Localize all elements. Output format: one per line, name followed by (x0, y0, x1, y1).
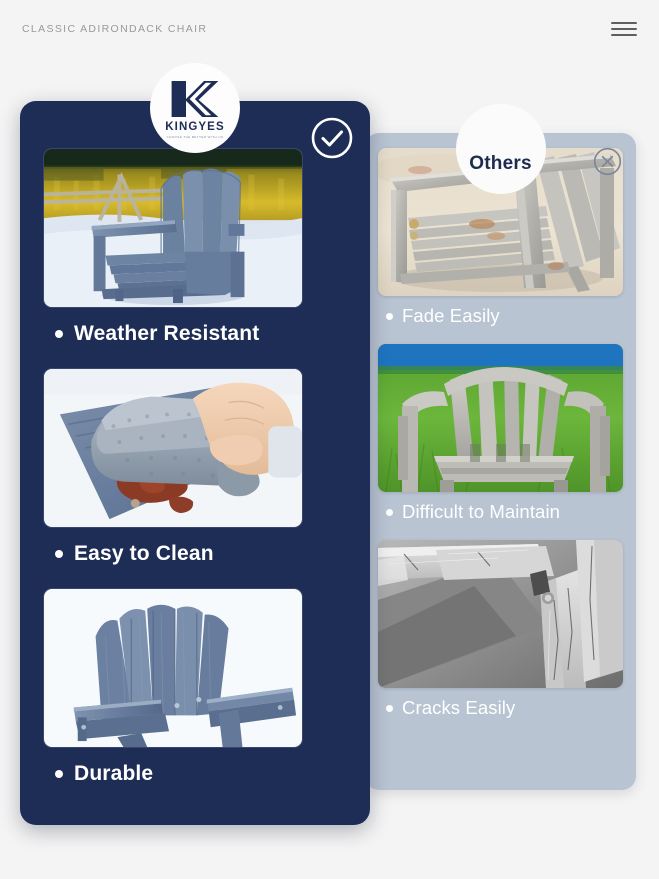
bullet-icon (386, 313, 393, 320)
brand-feature-image-2 (43, 588, 303, 748)
others-feature-label-2: Cracks Easily (378, 688, 623, 729)
list-item: Difficult to Maintain (378, 344, 623, 533)
check-circle-icon (310, 116, 354, 160)
label-text: Cracks Easily (402, 697, 515, 719)
bullet-icon (386, 509, 393, 516)
brand-feature-label-2: Durable (43, 748, 347, 802)
others-feature-image-1 (378, 344, 623, 492)
label-text: Difficult to Maintain (402, 501, 560, 523)
others-title-badge: Others (456, 104, 546, 194)
brand-tagline: CHOOSE THE BETTER WITH US (167, 135, 224, 139)
brand-comparison-card: Weather Resistant (20, 101, 370, 825)
label-text: Durable (74, 762, 153, 786)
brand-feature-image-0 (43, 148, 303, 308)
list-item: Easy to Clean (43, 368, 347, 582)
brand-feature-label-1: Easy to Clean (43, 528, 347, 582)
bullet-icon (55, 770, 63, 778)
label-text: Fade Easily (402, 305, 500, 327)
bullet-icon (55, 550, 63, 558)
brand-feature-list: Weather Resistant (20, 101, 370, 825)
label-text: Easy to Clean (74, 542, 214, 566)
brand-feature-image-1 (43, 368, 303, 528)
brand-name: KINGYES (165, 121, 224, 133)
list-item: Durable (43, 588, 347, 802)
x-circle-icon (592, 146, 623, 177)
others-feature-label-1: Difficult to Maintain (378, 492, 623, 533)
bullet-icon (386, 705, 393, 712)
list-item: Cracks Easily (378, 540, 623, 729)
brand-feature-label-0: Weather Resistant (43, 308, 347, 362)
bullet-icon (55, 330, 63, 338)
others-feature-list: Fade Easily (365, 133, 636, 790)
list-item: Weather Resistant (43, 148, 347, 362)
kingyes-k-logo-icon (168, 79, 222, 119)
comparison-stage: Fade Easily (0, 0, 659, 879)
others-feature-label-0: Fade Easily (378, 296, 623, 337)
brand-logo-badge: KINGYES CHOOSE THE BETTER WITH US (150, 63, 240, 153)
label-text: Weather Resistant (74, 322, 259, 346)
others-feature-image-2 (378, 540, 623, 688)
others-title: Others (469, 153, 531, 175)
others-comparison-card: Fade Easily (365, 133, 636, 790)
